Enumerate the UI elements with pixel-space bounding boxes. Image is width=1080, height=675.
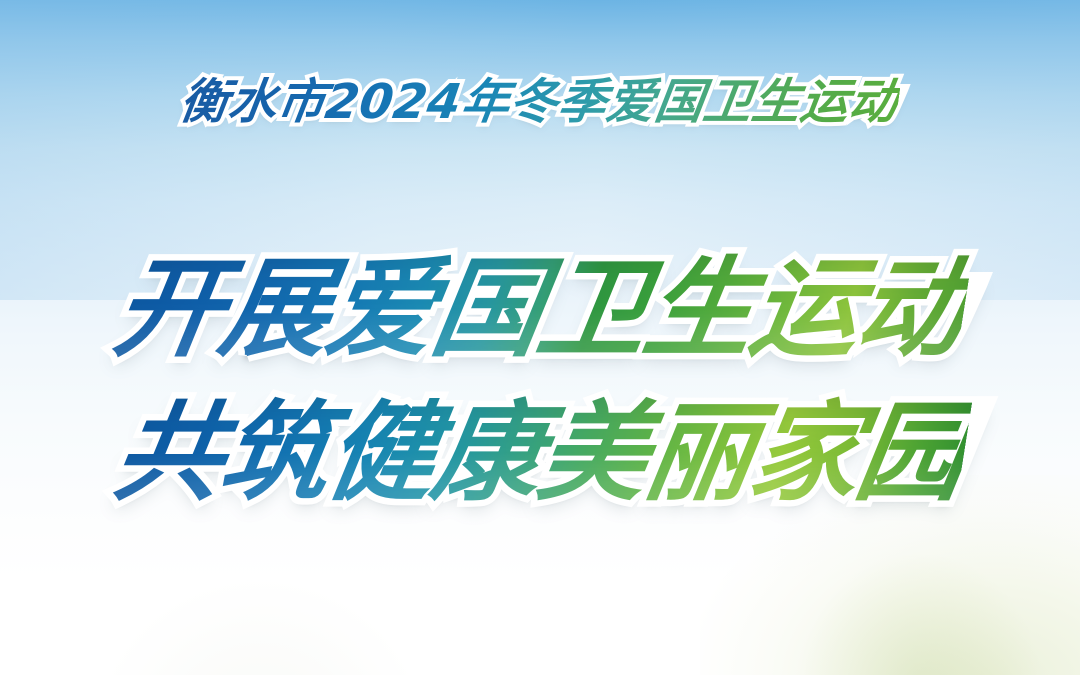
poster-title-fill: 衡水市2024年冬季爱国卫生运动 [176,62,903,132]
headline-line-1: 开展爱国卫生运动 开展爱国卫生运动 开展爱国卫生运动 [106,245,975,375]
headline-line-2-fill: 共筑健康美丽家园 [106,389,975,519]
foliage-haze-left-icon [90,575,430,675]
poster-headline-block: 开展爱国卫生运动 开展爱国卫生运动 开展爱国卫生运动 共筑健康美丽家园 共筑健康… [0,245,1080,519]
poster-title: 衡水市2024年冬季爱国卫生运动 衡水市2024年冬季爱国卫生运动 [176,62,903,132]
headline-line-1-fill: 开展爱国卫生运动 [106,245,975,375]
foliage-haze-center-icon [800,555,1040,675]
headline-line-2: 共筑健康美丽家园 共筑健康美丽家园 共筑健康美丽家园 [106,389,975,519]
poster-title-block: 衡水市2024年冬季爱国卫生运动 衡水市2024年冬季爱国卫生运动 [0,62,1080,132]
poster-canvas: 衡水市2024年冬季爱国卫生运动 衡水市2024年冬季爱国卫生运动 开展爱国卫生… [0,0,1080,675]
